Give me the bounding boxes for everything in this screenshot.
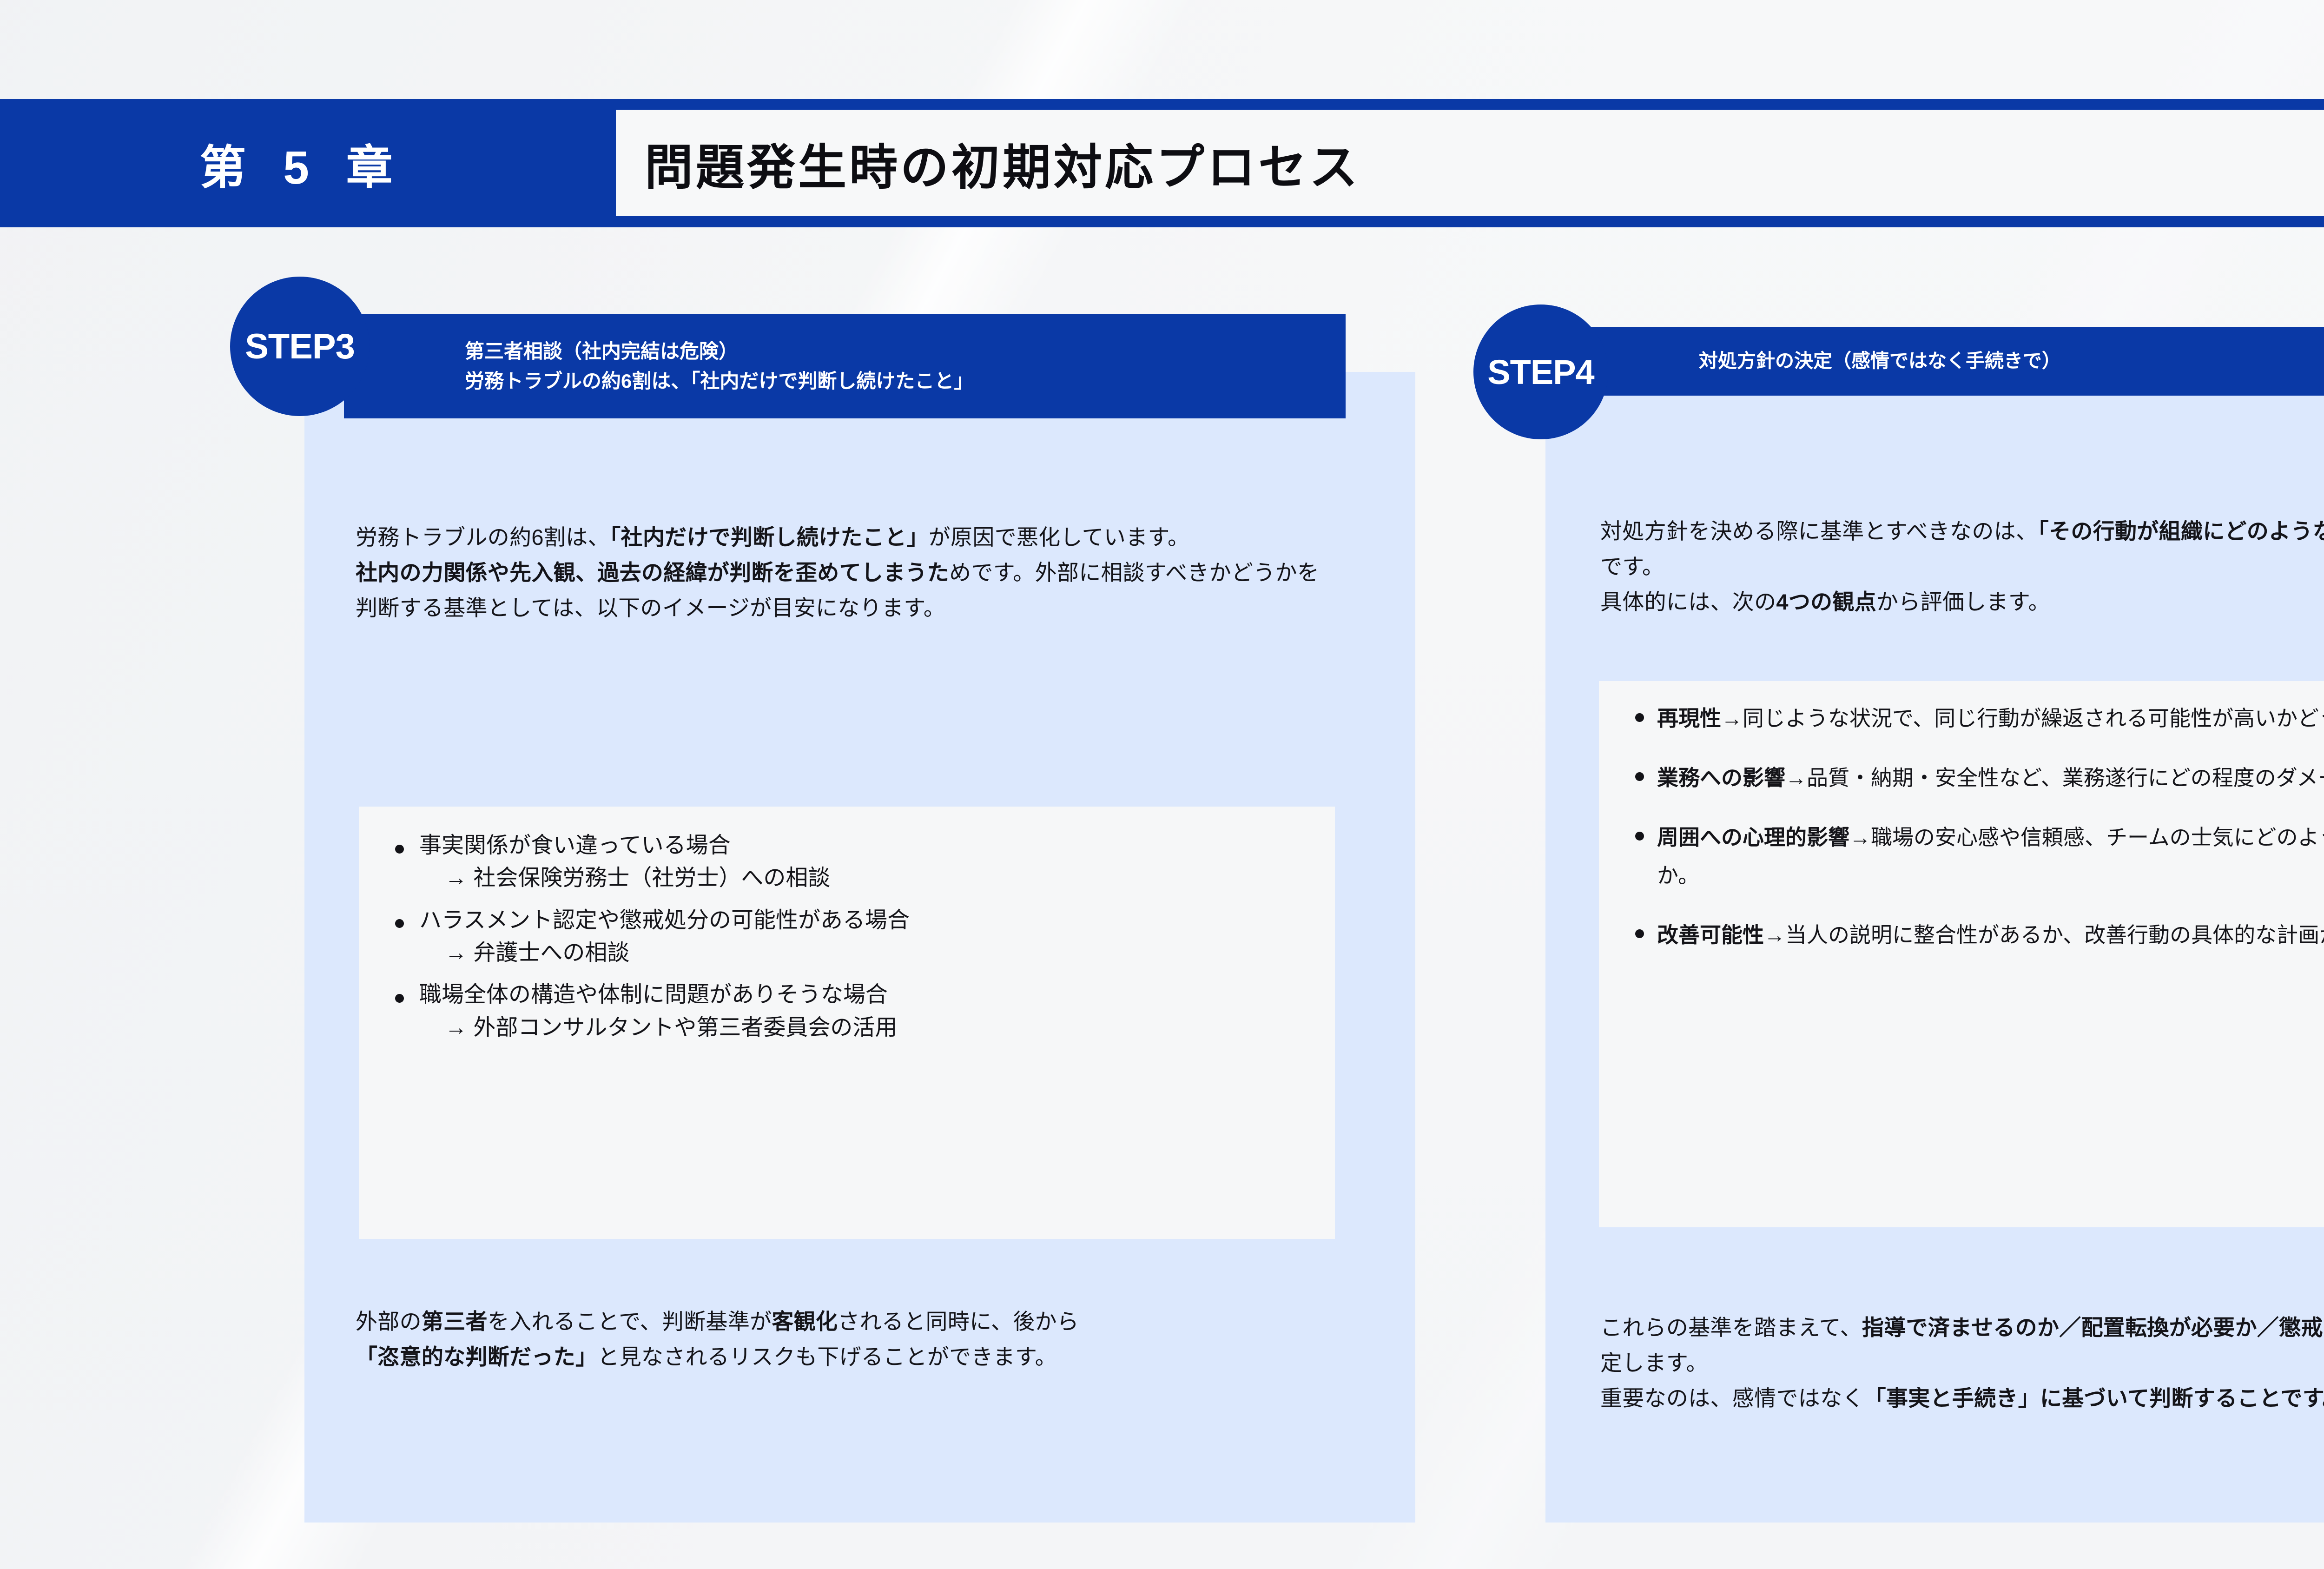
list-item-label: → 外部コンサルタントや第三者委員会の活用 — [359, 1013, 1316, 1043]
list-item-label: 業務への影響→品質・納期・安全性など、業務遂行にどの程度のダメージを与えたか。 — [1599, 759, 2324, 797]
list-item: ハラスメント認定や懲戒処分の可能性がある場合 — [359, 906, 1316, 935]
step3-heading-bar: 第三者相談（社内完結は危険） 労務トラブルの約6割は、「社内だけで判断し続けたこ… — [344, 314, 1346, 418]
bullet-dot — [1635, 713, 1644, 722]
chapter-label-area: 第 5 章 — [0, 99, 604, 227]
list-item-label: 事実関係が食い違っている場合 — [359, 831, 1316, 861]
list-item-label: → 弁護士への相談 — [359, 938, 1316, 968]
chapter-label: 第 5 章 — [199, 130, 404, 197]
bullet-dot — [1635, 929, 1644, 938]
step4-heading-line1: 対処方針の決定（感情ではなく手続きで） — [1699, 348, 2324, 374]
list-item-label: → 社会保険労務士（社労士）への相談 — [359, 863, 1316, 893]
list-item: → 外部コンサルタントや第三者委員会の活用 — [359, 1013, 1316, 1043]
list-item-label: 改善可能性→当人の説明に整合性があるか、改善行動の具体的な計画が示されているか。 — [1599, 916, 2324, 954]
step3-badge: STEP3 — [230, 277, 370, 416]
step4-heading-bar: 対処方針の決定（感情ではなく手続きで） — [1580, 327, 2324, 396]
list-item: → 社会保険労務士（社労士）への相談 — [359, 863, 1316, 893]
list-item: 事実関係が食い違っている場合 — [359, 831, 1316, 861]
step3-criteria-box: 事実関係が食い違っている場合→ 社会保険労務士（社労士）への相談ハラスメント認定… — [359, 807, 1335, 1239]
list-item-label: 職場全体の構造や体制に問題がありそうな場合 — [359, 980, 1316, 1010]
step3-bullet-list: 事実関係が食い違っている場合→ 社会保険労務士（社労士）への相談ハラスメント認定… — [359, 831, 1316, 1043]
list-item-label: ハラスメント認定や懲戒処分の可能性がある場合 — [359, 906, 1316, 935]
bullet-dot — [395, 845, 404, 854]
step4-viewpoints-box: 再現性→同じような状況で、同じ行動が繰返される可能性が高いかどうか。業務への影響… — [1599, 681, 2324, 1227]
list-item: 職場全体の構造や体制に問題がありそうな場合 — [359, 980, 1316, 1010]
step3-intro-paragraph: 労務トラブルの約6割は、「社内だけで判断し続けたこと」が原因で悪化しています。社… — [356, 520, 1341, 626]
list-item: 周囲への心理的影響→職場の安心感や信頼感、チームの士気にどのような影響が出ている… — [1599, 819, 2324, 895]
list-item-label: 周囲への心理的影響→職場の安心感や信頼感、チームの士気にどのような影響が出ている… — [1599, 819, 2324, 895]
list-item: 改善可能性→当人の説明に整合性があるか、改善行動の具体的な計画が示されているか。 — [1599, 916, 2324, 954]
bullet-dot — [395, 994, 404, 1003]
step3-outro-paragraph: 外部の第三者を入れることで、判断基準が客観化されると同時に、後から「恣意的な判断… — [356, 1304, 1313, 1375]
slide-title-box: 問題発生時の初期対応プロセス — [616, 110, 2324, 216]
list-item: → 弁護士への相談 — [359, 938, 1316, 968]
step4-outro-paragraph: これらの基準を踏まえて、指導で済ませるのか／配置転換が必要か／懲戒も含めて検討す… — [1600, 1310, 2324, 1416]
step3-heading-line2: 労務トラブルの約6割は、「社内だけで判断し続けたこと」 — [465, 366, 1346, 396]
list-item: 業務への影響→品質・納期・安全性など、業務遂行にどの程度のダメージを与えたか。 — [1599, 759, 2324, 797]
list-item-label: 再現性→同じような状況で、同じ行動が繰返される可能性が高いかどうか。 — [1599, 700, 2324, 738]
step3-badge-label: STEP3 — [245, 326, 355, 367]
step4-intro-paragraph: 対処方針を決める際に基準とすべきなのは、「その行動が組織にどのような影響を与えた… — [1600, 514, 2324, 620]
page-title: 問題発生時の初期対応プロセス — [616, 128, 1360, 198]
step4-badge-label: STEP4 — [1487, 352, 1594, 392]
step4-badge: STEP4 — [1473, 305, 1608, 439]
step3-heading-line1: 第三者相談（社内完結は危険） — [465, 337, 1346, 366]
list-item: 再現性→同じような状況で、同じ行動が繰返される可能性が高いかどうか。 — [1599, 700, 2324, 738]
step4-bullet-list: 再現性→同じような状況で、同じ行動が繰返される可能性が高いかどうか。業務への影響… — [1599, 700, 2324, 954]
